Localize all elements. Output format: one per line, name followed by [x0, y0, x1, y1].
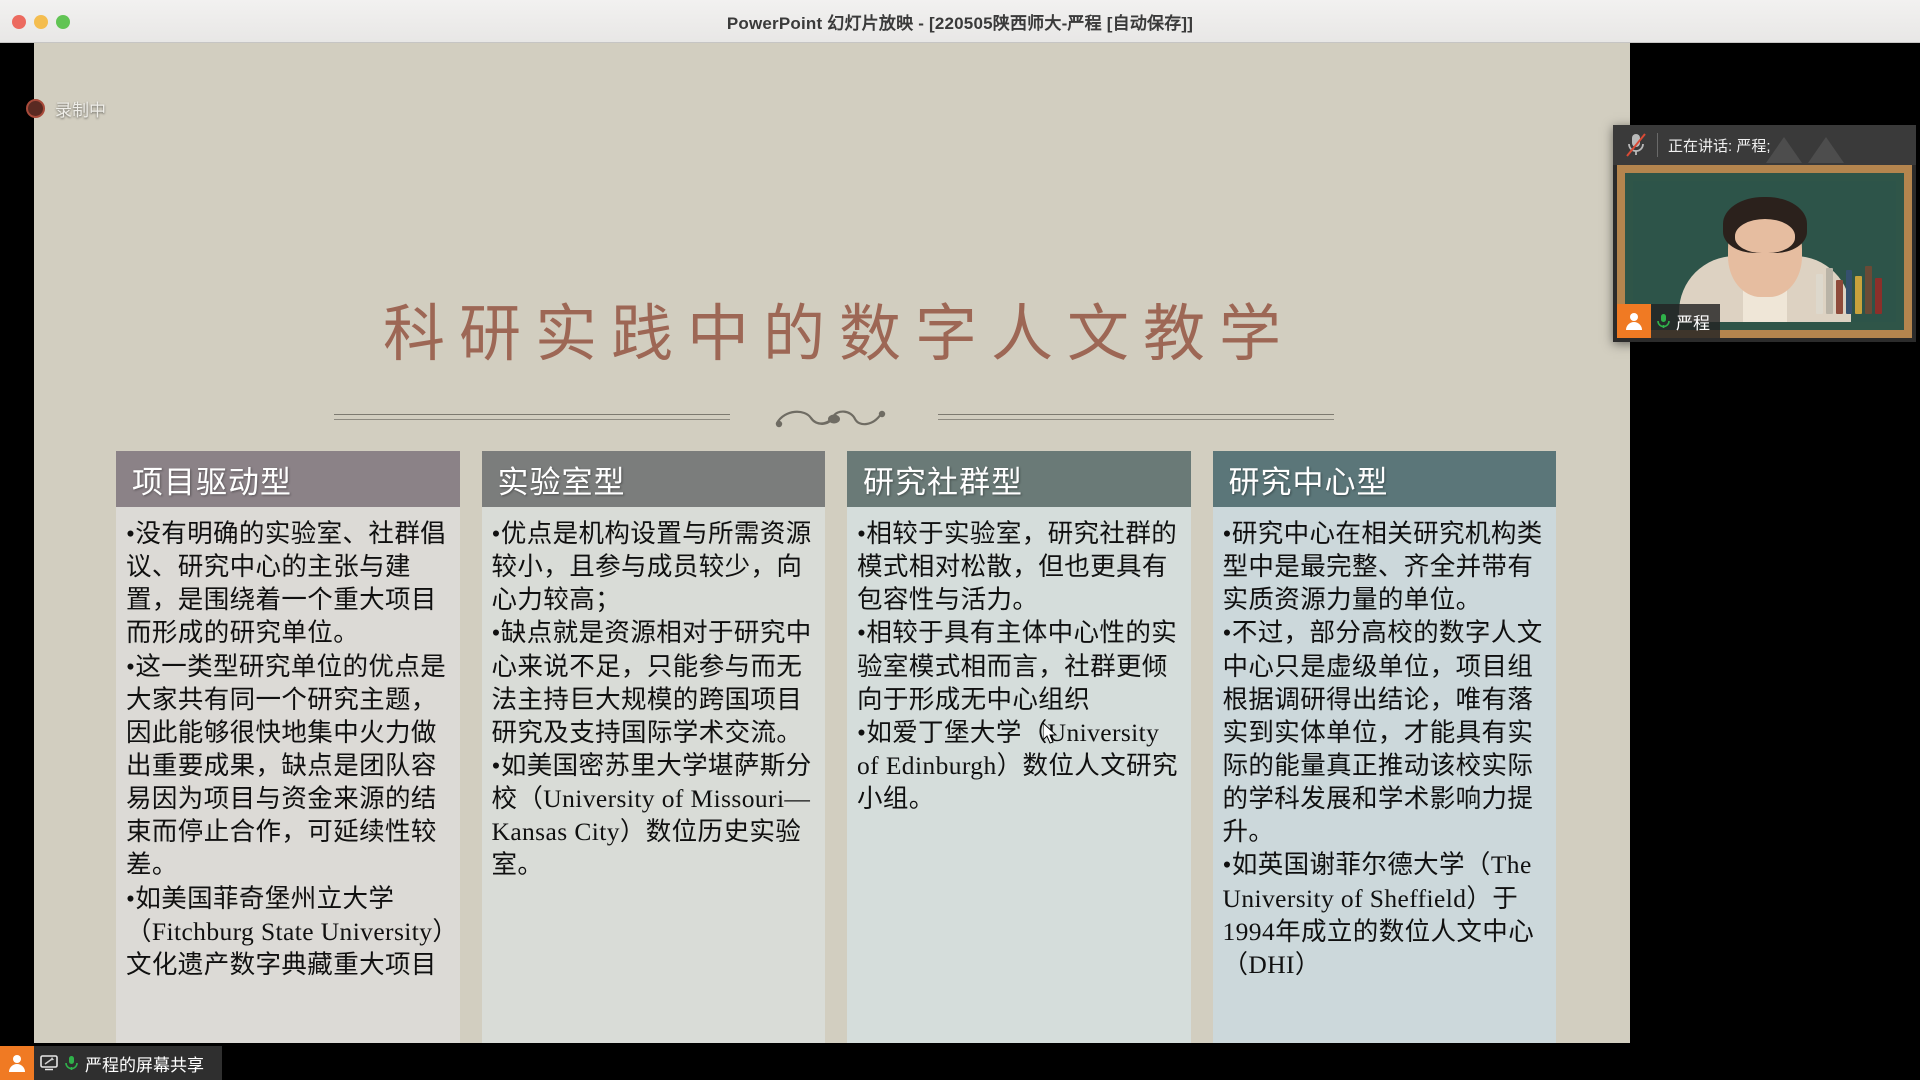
column-laboratory: 实验室型 •优点是机构设置与所需资源较小，且参与成员较少，向心力较高；•缺点就是… [482, 451, 826, 1043]
chalkboard-surface [1633, 181, 1896, 322]
video-feed[interactable]: 严程 [1617, 165, 1912, 338]
column-header: 研究中心型 [1213, 451, 1557, 507]
window-title-bar: PowerPoint 幻灯片放映 - [220505陕西师大-严程 [自动保存]… [0, 0, 1920, 43]
column-project-driven: 项目驱动型 •没有明确的实验室、社群倡议、研究中心的主张与建置，是围绕着一个重大… [116, 451, 460, 1043]
zoom-button[interactable] [56, 15, 70, 29]
record-icon [26, 99, 45, 118]
desktop-stage: 科研实践中的数字人文教学 项目驱动型 •没有明确 [0, 43, 1920, 1080]
title-divider [334, 405, 1334, 431]
video-panel[interactable]: 正在讲话: 严程; [1613, 125, 1916, 342]
screen-share-icon [40, 1055, 58, 1071]
video-panel-toolbar: 正在讲话: 严程; [1613, 125, 1916, 165]
slide-canvas: 科研实践中的数字人文教学 项目驱动型 •没有明确 [34, 43, 1630, 1043]
ornament-icon [759, 405, 909, 431]
recording-indicator[interactable]: 录制中 [26, 96, 106, 121]
person-hair [1723, 197, 1807, 253]
window-controls[interactable] [12, 0, 70, 43]
participant-name: 严程 [1676, 309, 1710, 334]
screen-share-bar[interactable]: 严程的屏幕共享 [0, 1046, 222, 1080]
mic-icon [64, 1055, 79, 1072]
share-label-wrap: 严程的屏幕共享 [34, 1046, 222, 1080]
participant-badge: 严程 [1617, 304, 1720, 338]
column-research-community: 研究社群型 •相较于实验室，研究社群的模式相对松散，但也更具有包容性与活力。•相… [847, 451, 1191, 1043]
column-research-center: 研究中心型 •研究中心在相关研究机构类型中是最完整、齐全并带有实质资源力量的单位… [1213, 451, 1557, 1043]
category-columns: 项目驱动型 •没有明确的实验室、社群倡议、研究中心的主张与建置，是围绕着一个重大… [116, 451, 1556, 1043]
participant-name-wrap: 严程 [1651, 304, 1720, 338]
column-header: 研究社群型 [847, 451, 1191, 507]
column-header: 实验室型 [482, 451, 826, 507]
bookshelf [1816, 258, 1882, 314]
close-button[interactable] [12, 15, 26, 29]
share-label: 严程的屏幕共享 [85, 1051, 204, 1076]
toolbar-divider [1657, 133, 1658, 157]
person-icon [0, 1046, 34, 1080]
slide-title: 科研实践中的数字人文教学 [34, 283, 1630, 373]
column-body: •研究中心在相关研究机构类型中是最完整、齐全并带有实质资源力量的单位。•不过，部… [1213, 507, 1557, 1043]
column-header: 项目驱动型 [116, 451, 460, 507]
chevron-decoration-icon [1750, 129, 1862, 163]
window-title: PowerPoint 幻灯片放映 - [220505陕西师大-严程 [自动保存]… [727, 9, 1193, 34]
mic-icon [1656, 313, 1671, 330]
column-body: •相较于实验室，研究社群的模式相对松散，但也更具有包容性与活力。•相较于具有主体… [847, 507, 1191, 1043]
column-body: •优点是机构设置与所需资源较小，且参与成员较少，向心力较高；•缺点就是资源相对于… [482, 507, 826, 1043]
minimize-button[interactable] [34, 15, 48, 29]
screen-root: PowerPoint 幻灯片放映 - [220505陕西师大-严程 [自动保存]… [0, 0, 1920, 1080]
person-icon [1617, 304, 1651, 338]
column-body: •没有明确的实验室、社群倡议、研究中心的主张与建置，是围绕着一个重大项目而形成的… [116, 507, 460, 1043]
mouse-cursor [1043, 723, 1057, 744]
mic-muted-icon[interactable] [1625, 132, 1647, 158]
recording-label: 录制中 [55, 96, 106, 121]
